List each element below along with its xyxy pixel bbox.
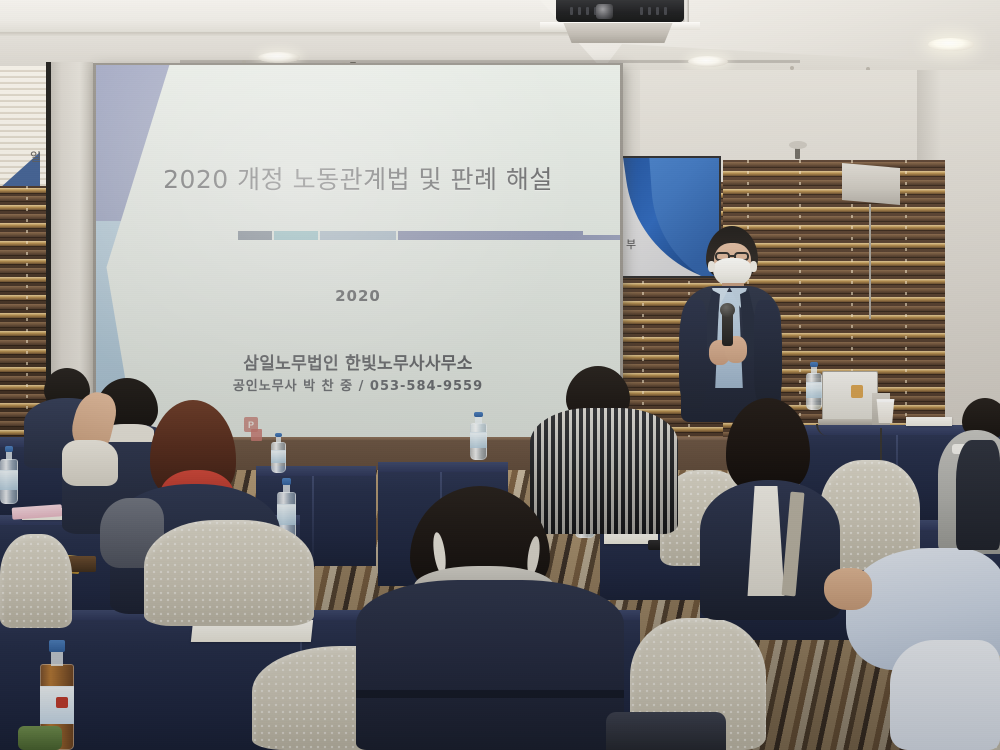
slide-accent-bar-tail xyxy=(581,235,620,240)
mask-strap xyxy=(708,261,715,272)
microphone-icon xyxy=(722,312,733,346)
chair-back xyxy=(144,520,314,626)
recessed-light-icon xyxy=(688,56,728,67)
laptop-logo-icon xyxy=(851,385,863,398)
slide-body xyxy=(96,65,620,454)
projection-screen[interactable]: 2020 개정 노동관계법 및 판례 해설 2020 삼일노무법인 한빛노무사사… xyxy=(96,65,620,454)
wall-sign-left-label: 일 xyxy=(30,148,41,165)
projector-lens-icon xyxy=(596,4,613,19)
water-bottle[interactable] xyxy=(806,362,822,410)
ceiling-sensor-base xyxy=(789,141,807,149)
bag-item xyxy=(606,712,726,750)
attendee-edge-right xyxy=(956,440,1000,550)
mask-strap xyxy=(750,261,757,272)
slide-presenter-contact: 공인노무사 박 찬 중 / 053-584-9559 xyxy=(96,375,620,394)
desk-paper xyxy=(906,417,952,426)
glasses-bridge xyxy=(730,255,735,257)
recessed-light-icon xyxy=(928,38,974,51)
water-bottle[interactable] xyxy=(271,433,286,473)
wall-speaker-icon xyxy=(842,163,900,205)
water-bottle[interactable] xyxy=(470,412,487,460)
projector-base-plate xyxy=(560,23,676,43)
laptop-icon[interactable] xyxy=(822,371,878,421)
chair-back xyxy=(0,534,72,628)
microphone-head-icon xyxy=(720,303,735,317)
presenter-arm-left xyxy=(679,300,707,408)
attendee-lap xyxy=(890,640,1000,750)
speaker-cable xyxy=(869,204,871,319)
presenter-arm-right xyxy=(754,300,782,408)
water-bottle[interactable] xyxy=(0,446,18,504)
hand xyxy=(824,568,872,610)
ceiling-sensor-icon xyxy=(795,148,800,159)
recessed-light-icon xyxy=(258,52,300,63)
projector-icon xyxy=(556,0,684,22)
seminar-room-photo: 일 xyxy=(0,0,1000,750)
wall-banner-label: 부 xyxy=(626,236,636,252)
slide-year: 2020 xyxy=(96,287,620,305)
snack-item xyxy=(68,556,96,572)
slide-organization: 삼일노무법인 한빛노무사사무소 xyxy=(96,349,620,374)
foreground-object xyxy=(18,726,62,750)
slide-accent-bar xyxy=(238,231,583,240)
slide-title: 2020 개정 노동관계법 및 판례 해설 xyxy=(96,160,620,196)
